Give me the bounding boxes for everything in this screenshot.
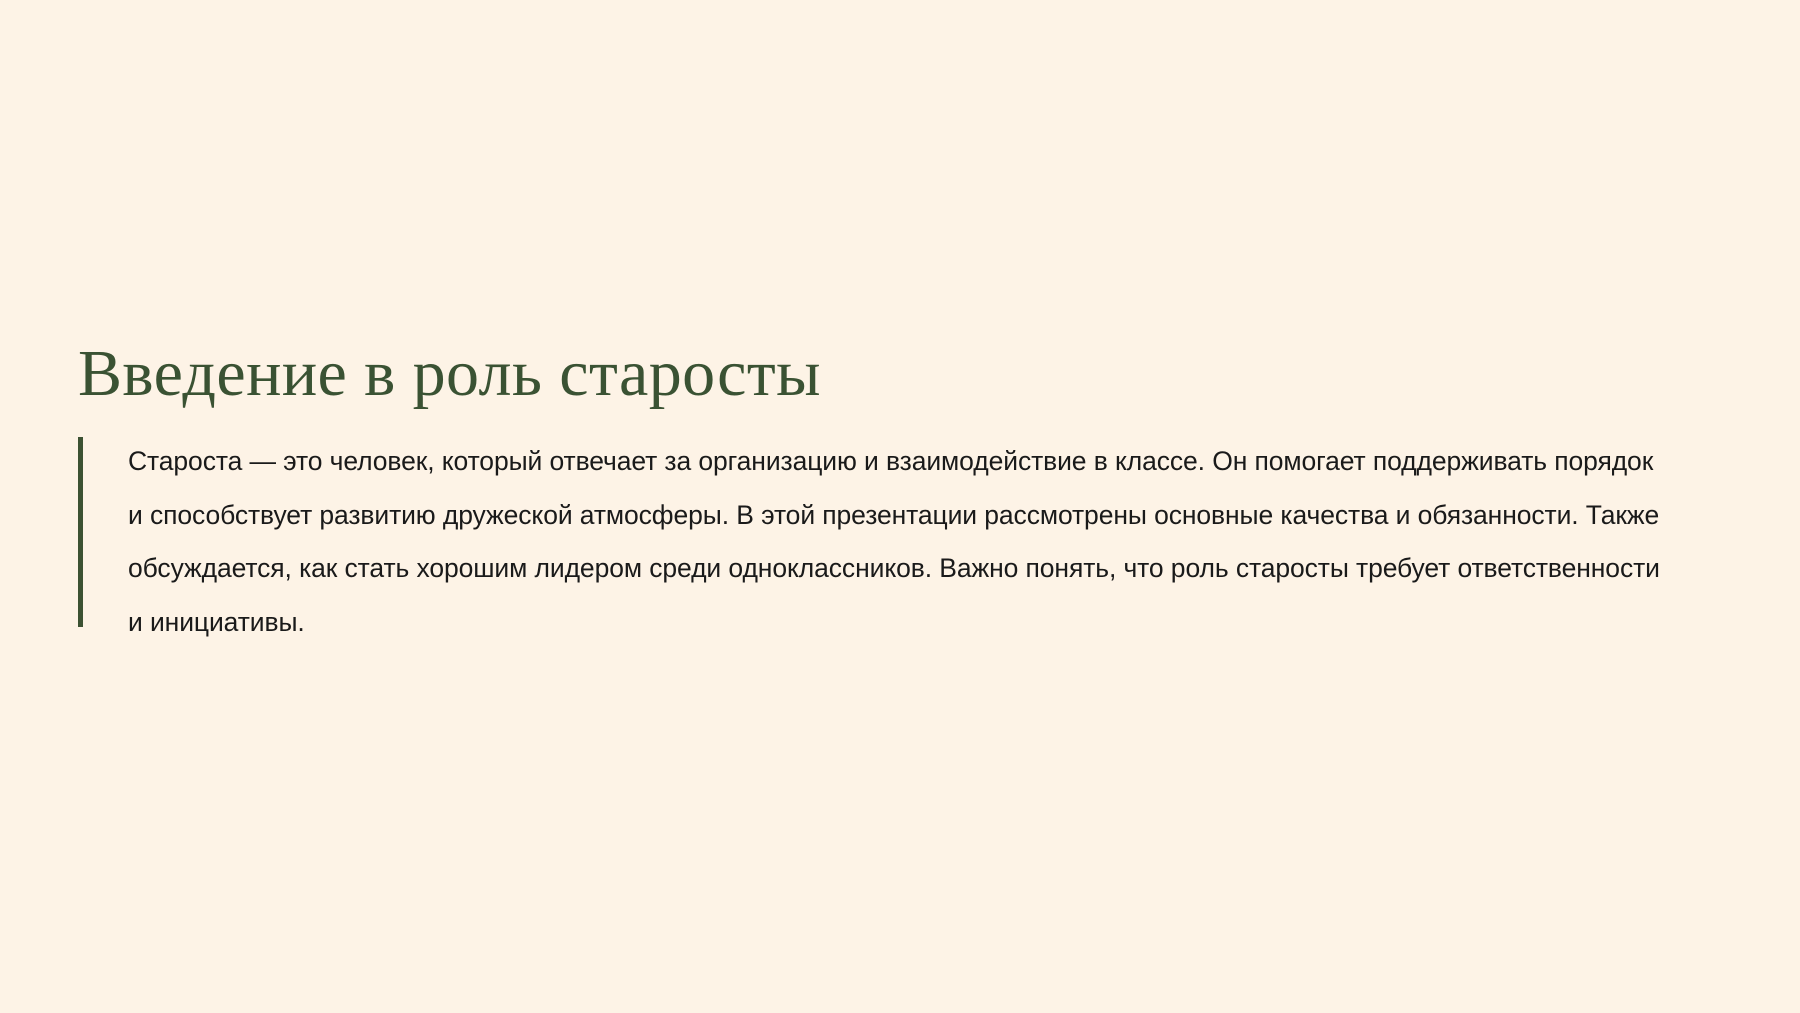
slide-canvas: Введение в роль старосты Староста — это … — [0, 0, 1800, 1013]
body-callout-block: Староста — это человек, который отвечает… — [78, 435, 1698, 649]
body-paragraph: Староста — это человек, который отвечает… — [128, 435, 1673, 649]
slide-content: Введение в роль старосты Староста — это … — [78, 338, 1698, 649]
accent-bar — [78, 437, 83, 627]
page-title: Введение в роль старосты — [78, 338, 1698, 409]
